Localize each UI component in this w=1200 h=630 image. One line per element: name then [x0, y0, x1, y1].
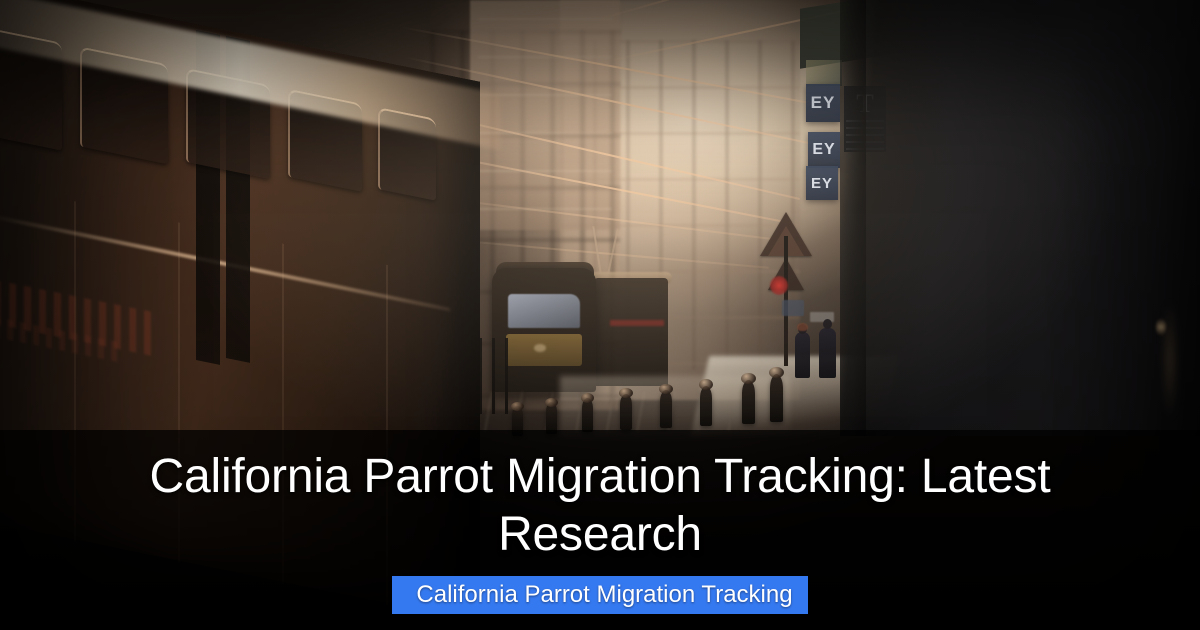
pedestrian-body — [795, 332, 810, 378]
bollard — [770, 374, 783, 422]
page-title: California Parrot Migration Tracking: La… — [120, 448, 1080, 564]
bollard-cap — [769, 367, 784, 378]
tram-rear-red-stripe — [610, 320, 664, 326]
pedestrian-hair — [797, 323, 808, 331]
bollard — [582, 398, 593, 432]
tram-rear-car — [592, 278, 668, 386]
ey-banner: EY — [806, 166, 838, 200]
pedestrian-head — [823, 319, 832, 329]
bollard — [620, 394, 632, 430]
bollard-cap — [699, 379, 713, 390]
street-sign-box — [782, 300, 804, 316]
social-share-card: EY EY EY T — [0, 0, 1200, 630]
text-overlay: California Parrot Migration Tracking: La… — [0, 430, 1200, 630]
tram-headlamp — [534, 344, 546, 352]
ey-banner: EY — [808, 132, 840, 168]
bollard — [742, 380, 755, 424]
dark-building-right — [840, 0, 1200, 436]
bollard-cap — [545, 398, 558, 407]
bollard-cap — [511, 402, 524, 411]
bollard-cap — [659, 384, 673, 394]
ey-banner: EY — [806, 84, 840, 122]
bollard — [660, 390, 672, 428]
distant-lamp — [1156, 318, 1166, 336]
bollard — [700, 386, 712, 426]
tram-windscreen — [508, 294, 580, 328]
bollard-cap — [619, 388, 633, 398]
bollard-cap — [741, 373, 756, 384]
red-traffic-light — [770, 276, 788, 295]
banner-artwork — [806, 60, 842, 86]
bollard-cap — [581, 393, 594, 403]
topic-badge[interactable]:  California Parrot Migration Tracking — [392, 576, 807, 614]
building-edge-glow — [1162, 300, 1178, 420]
pedestrian-body — [819, 328, 836, 378]
topic-badge-label: California Parrot Migration Tracking — [416, 576, 792, 614]
